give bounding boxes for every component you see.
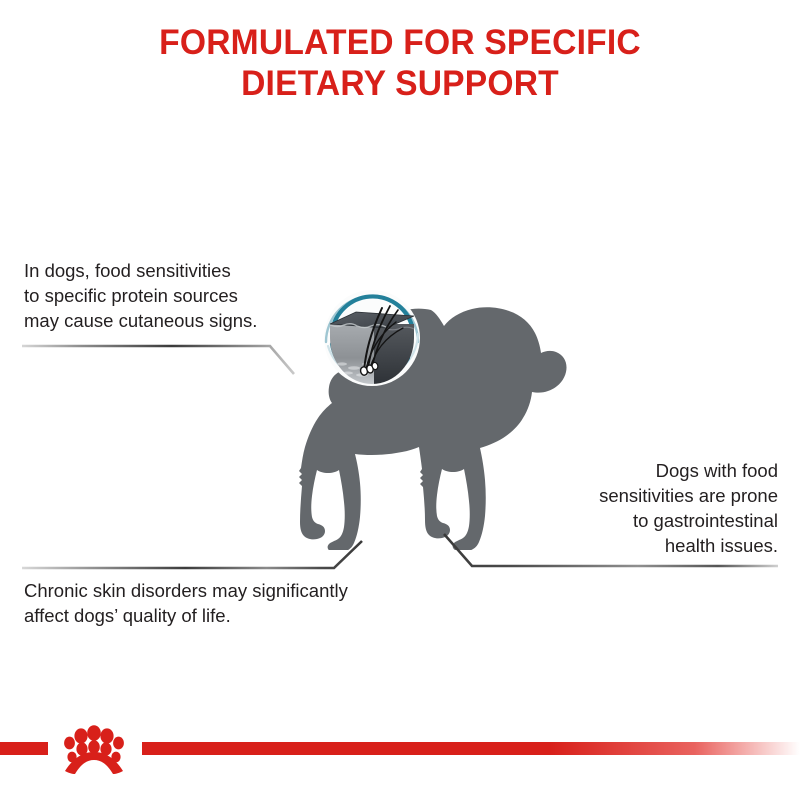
title-line-1: FORMULATED FOR SPECIFIC (16, 22, 784, 63)
footer-brand-bar (0, 738, 800, 758)
skin-cross-section-magnifier (308, 272, 436, 400)
page-title: FORMULATED FOR SPECIFIC DIETARY SUPPORT (0, 22, 800, 105)
callout-skin-sensitivities: In dogs, food sensitivities to specific … (24, 258, 314, 333)
brand-bar-left-segment (0, 742, 48, 755)
callout-chronic-line-2: affect dogs’ quality of life. (24, 603, 474, 628)
callout-skin-line-2: to specific protein sources (24, 283, 314, 308)
callout-gi-line-2: sensitivities are prone (518, 483, 778, 508)
callout-gi-line-1: Dogs with food (518, 458, 778, 483)
leader-line-skin (18, 336, 308, 391)
callout-skin-line-3: may cause cutaneous signs. (24, 308, 314, 333)
infographic-page: FORMULATED FOR SPECIFIC DIETARY SUPPORT (0, 0, 800, 800)
callout-skin-line-1: In dogs, food sensitivities (24, 258, 314, 283)
royal-canin-crown-logo (52, 716, 136, 780)
leader-line-chronic-skin (18, 536, 378, 591)
title-line-2: DIETARY SUPPORT (16, 63, 784, 104)
leader-line-gastrointestinal (438, 528, 788, 583)
brand-bar-right-segment (142, 742, 800, 755)
